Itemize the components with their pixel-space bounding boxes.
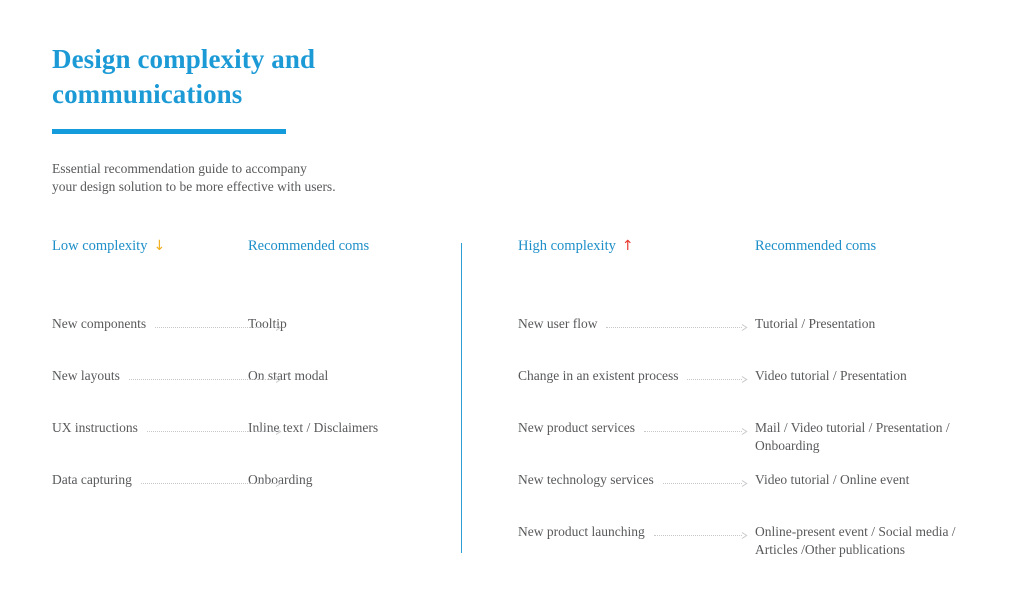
page-title: Design complexity and communications [52,42,472,111]
title-underline-rule [52,129,286,134]
row-term: New product services [518,419,642,437]
table-row: New product services Mail / Video tutori… [518,419,1018,471]
dotted-arrow-icon [687,375,749,383]
page-subtitle: Essential recommendation guide to accomp… [52,160,472,196]
table-row: New layouts On start modal [52,367,452,419]
high-complexity-heading: High complexity↑ [518,238,634,255]
row-recommendation: Video tutorial / Presentation [755,367,1005,385]
arrow-down-icon: ↓ [153,239,165,253]
table-row: New user flow Tutorial / Presentation [518,315,1018,367]
section-header-low: Low complexity↓ Recommended coms [52,238,452,262]
dotted-arrow-icon [644,427,749,435]
row-term: New layouts [52,367,127,385]
header-block: Design complexity and communications Ess… [52,42,472,196]
row-recommendation: Inline text / Disclaimers [248,419,448,437]
low-recommended-coms-heading: Recommended coms [248,238,369,255]
row-recommendation: Onboarding [248,471,448,489]
table-row: New product launching Online-present eve… [518,523,1018,575]
low-complexity-label: Low complexity [52,238,147,254]
high-complexity-rows: New user flow Tutorial / Presentation Ch… [518,315,1018,575]
section-high-complexity: High complexity↑ Recommended coms New us… [518,238,1018,575]
dotted-arrow-icon [663,479,749,487]
row-recommendation: On start modal [248,367,448,385]
row-recommendation: Mail / Video tutorial / Presentation / O… [755,419,1005,455]
row-term: Data capturing [52,471,139,489]
row-recommendation: Online-present event / Social media / Ar… [755,523,1005,559]
table-row: Data capturing Onboarding [52,471,452,523]
table-row: UX instructions Inline text / Disclaimer… [52,419,452,471]
high-recommended-coms-heading: Recommended coms [755,238,876,255]
dotted-arrow-icon [654,531,749,539]
low-complexity-heading: Low complexity↓ [52,238,165,255]
row-term: Change in an existent process [518,367,685,385]
row-recommendation: Tooltip [248,315,448,333]
row-term: New product launching [518,523,652,541]
section-header-high: High complexity↑ Recommended coms [518,238,1018,262]
row-term: New components [52,315,153,333]
table-row: New technology services Video tutorial /… [518,471,1018,523]
arrow-up-icon: ↑ [622,239,634,253]
row-term: New technology services [518,471,661,489]
table-row: Change in an existent process Video tuto… [518,367,1018,419]
table-row: New components Tooltip [52,315,452,367]
low-complexity-rows: New components Tooltip New layouts On st… [52,315,452,523]
row-term: UX instructions [52,419,145,437]
infographic-page: Design complexity and communications Ess… [0,0,1024,592]
high-complexity-label: High complexity [518,238,616,254]
row-term: New user flow [518,315,604,333]
column-divider [461,243,462,553]
row-recommendation: Video tutorial / Online event [755,471,1005,489]
row-recommendation: Tutorial / Presentation [755,315,1005,333]
dotted-arrow-icon [606,323,749,331]
section-low-complexity: Low complexity↓ Recommended coms New com… [52,238,452,523]
